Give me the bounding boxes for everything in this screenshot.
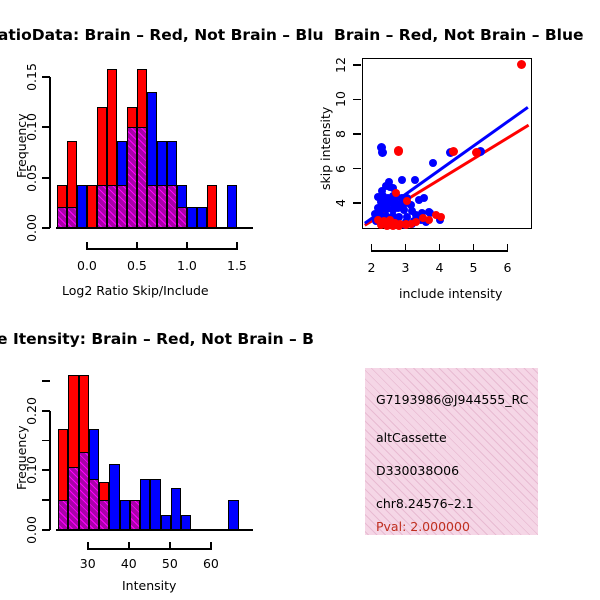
ratio-xtick-label: 0.0 (77, 258, 97, 273)
gene-ytick-minor (42, 440, 50, 442)
scatter-ytick (353, 99, 361, 101)
ratio-bar-overlap (97, 185, 107, 228)
scatter-ytick (353, 133, 361, 135)
ratio-bar-overlap (137, 127, 147, 228)
scatter-ytick (353, 168, 361, 170)
scatter-xtick-label: 3 (402, 260, 410, 275)
scatter-xtick (439, 244, 441, 252)
scatter-ytick-label: 6 (333, 165, 348, 173)
scatter-ytick-label: 10 (333, 92, 348, 108)
gene-baseline (56, 529, 253, 531)
info-line-2: altCassette (376, 430, 447, 445)
gene-ytick-label: 0.20 (24, 397, 39, 425)
gene-bar-blue (181, 515, 191, 530)
ratio-ytick (42, 227, 50, 229)
info-line-3: D330038O06 (376, 463, 459, 478)
scatter-ylabel: skip intensity (318, 107, 333, 190)
ratio-bar-overlap (177, 207, 187, 228)
gene-intensity-title: ne Itensity: Brain – Red, Not Brain – B (0, 330, 314, 348)
scatter-point-red (472, 148, 481, 157)
gene-bar-overlap (99, 500, 109, 530)
gene-bar-blue (140, 479, 150, 530)
gene-ytick-label: 0.00 (24, 516, 39, 544)
ratio-ytick (42, 76, 50, 78)
gene-bar-overlap (79, 452, 89, 530)
ratio-bar-overlap (67, 207, 77, 228)
info-line-4: chr8.24576–2.1 (376, 496, 474, 511)
scatter-point-red (394, 146, 403, 155)
scatter-point-red (449, 147, 458, 156)
ratio-xtick (136, 242, 138, 250)
scatter-point-red (392, 189, 400, 197)
ratio-yaxis-line (49, 77, 51, 228)
gene-bar-blue (120, 500, 130, 530)
gene-bar-blue (161, 515, 171, 530)
ratio-histogram-title: RatioData: Brain – Red, Not Brain – Blu (0, 26, 324, 44)
scatter-ytick-label: 12 (333, 57, 348, 73)
ratio-xtick (86, 242, 88, 250)
gene-ytick-minor (42, 380, 50, 382)
scatter-ytick (353, 64, 361, 66)
gene-xtick (87, 542, 89, 550)
scatter-point-red (412, 218, 420, 226)
ratio-bar-overlap (117, 185, 127, 228)
gene-bar-overlap (89, 479, 99, 530)
ratio-bar-overlap (127, 127, 137, 228)
ratio-bar-blue (197, 207, 207, 228)
scatter-point-blue (398, 176, 406, 184)
gene-intensity-xlabel: Intensity (122, 578, 176, 593)
ratio-bar-overlap (57, 207, 67, 228)
info-line-1: G7193986@J944555_RC (376, 392, 528, 407)
ratio-ytick (42, 126, 50, 128)
gene-ytick (42, 529, 50, 531)
gene-bar-overlap (130, 500, 140, 530)
gene-bar-blue (171, 488, 181, 530)
ratio-bar-blue (187, 207, 197, 228)
scatter-xtick-label: 2 (368, 260, 376, 275)
gene-xtick (169, 542, 171, 550)
gene-xtick-label: 50 (162, 556, 178, 571)
scatter-xtick (405, 244, 407, 252)
ratio-bar-overlap (157, 185, 167, 228)
info-line-5: Pval: 2.000000 (376, 519, 470, 534)
gene-xtick (128, 542, 130, 550)
ratio-ytick (42, 177, 50, 179)
gene-xtick-label: 30 (80, 556, 96, 571)
ratio-xtick (236, 242, 238, 250)
scatter-point-blue (429, 159, 437, 167)
gene-ytick (42, 410, 50, 412)
ratio-ytick-label: 0.05 (24, 164, 39, 192)
scatter-xtick-label: 6 (504, 260, 512, 275)
ratio-xtick (186, 242, 188, 250)
scatter-xtick-label: 5 (470, 260, 478, 275)
gene-bar-overlap (58, 500, 68, 530)
ratio-ytick-label: 0.00 (24, 214, 39, 242)
ratio-bar-overlap (147, 185, 157, 228)
ratio-ytick-label: 0.15 (24, 63, 39, 91)
gene-bar-blue (109, 464, 119, 530)
scatter-ytick (353, 202, 361, 204)
gene-xaxis-line (88, 548, 211, 550)
ratio-bar-overlap (167, 185, 177, 228)
ratio-bar-blue (77, 185, 87, 228)
scatter-xtick (507, 244, 509, 252)
gene-bar-blue (150, 479, 160, 530)
gene-bar-blue (228, 500, 238, 530)
scatter-ytick-label: 4 (333, 199, 348, 207)
ratio-bar-red (87, 185, 97, 228)
ratio-bar-red (207, 185, 217, 228)
scatter-xlabel: include intensity (399, 286, 502, 301)
scatter-title: Brain – Red, Not Brain – Blue (334, 26, 584, 44)
gene-xtick-label: 60 (203, 556, 219, 571)
gene-ytick-label: 0.10 (24, 456, 39, 484)
scatter-xtick-label: 4 (436, 260, 444, 275)
ratio-ytick-label: 0.10 (24, 113, 39, 141)
gene-ytick-minor (42, 499, 50, 501)
scatter-point-red (425, 216, 433, 224)
gene-xtick-label: 40 (121, 556, 137, 571)
ratio-xtick-label: 1.5 (227, 258, 247, 273)
ratio-bar-overlap (107, 185, 117, 228)
scatter-ytick-label: 8 (333, 130, 348, 138)
gene-bar-overlap (68, 467, 78, 530)
ratio-xtick-label: 1.0 (177, 258, 197, 273)
scatter-xtick (371, 244, 373, 252)
scatter-xtick (473, 244, 475, 252)
ratio-xaxis-line (87, 248, 237, 250)
ratio-histogram-xlabel: Log2 Ratio Skip/Include (62, 283, 209, 298)
ratio-baseline (56, 227, 253, 229)
ratio-bar-blue (227, 185, 237, 228)
gene-xtick (210, 542, 212, 550)
ratio-xtick-label: 0.5 (127, 258, 147, 273)
gene-ytick (42, 469, 50, 471)
